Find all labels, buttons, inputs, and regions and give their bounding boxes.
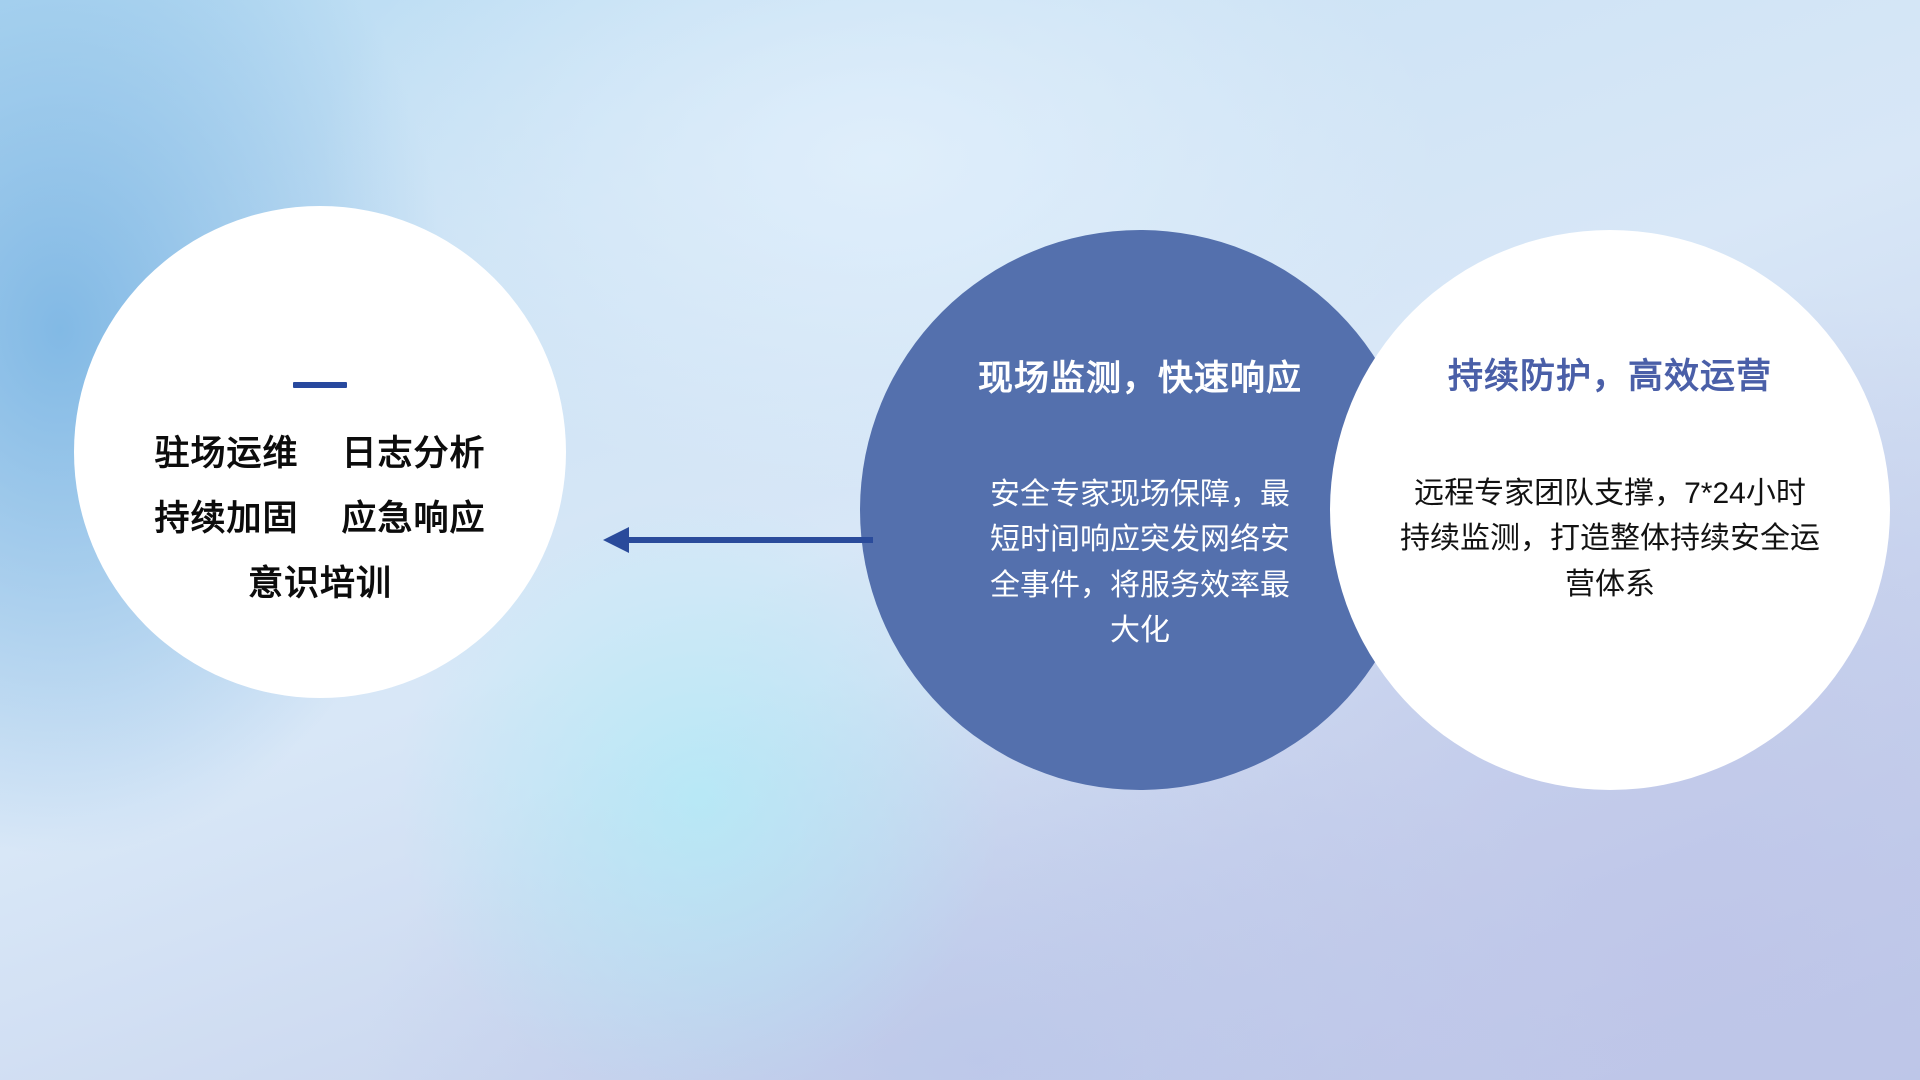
diagram-canvas: 驻场运维 日志分析 持续加固 应急响应 意识培训 现场监测，快速响应 安全专家现…: [0, 0, 1920, 1080]
left-capability-row-2: 持续加固 应急响应: [74, 501, 566, 538]
divider-bar: [293, 382, 347, 388]
right-circle-heading: 持续防护，高效运营: [1358, 358, 1862, 397]
right-circle-content: 持续防护，高效运营 远程专家团队支撑，7*24小时持续监测，打造整体持续安全运营…: [1330, 358, 1890, 607]
right-circle-body: 远程专家团队支撑，7*24小时持续监测，打造整体持续安全运营体系: [1400, 471, 1820, 608]
left-capability-row-3: 意识培训: [74, 566, 566, 603]
right-operations-circle[interactable]: 持续防护，高效运营 远程专家团队支撑，7*24小时持续监测，打造整体持续安全运营…: [1330, 230, 1890, 790]
connector-arrow: [595, 518, 875, 562]
left-capability-row-1: 驻场运维 日志分析: [74, 436, 566, 473]
arrow-left-icon: [595, 518, 875, 562]
left-capability-circle[interactable]: 驻场运维 日志分析 持续加固 应急响应 意识培训: [74, 206, 566, 698]
left-circle-content: 驻场运维 日志分析 持续加固 应急响应 意识培训: [74, 382, 566, 602]
middle-circle-body: 安全专家现场保障，最短时间响应突发网络安全事件，将服务效率最大化: [985, 472, 1295, 654]
middle-circle-heading: 现场监测，快速响应: [878, 360, 1402, 399]
